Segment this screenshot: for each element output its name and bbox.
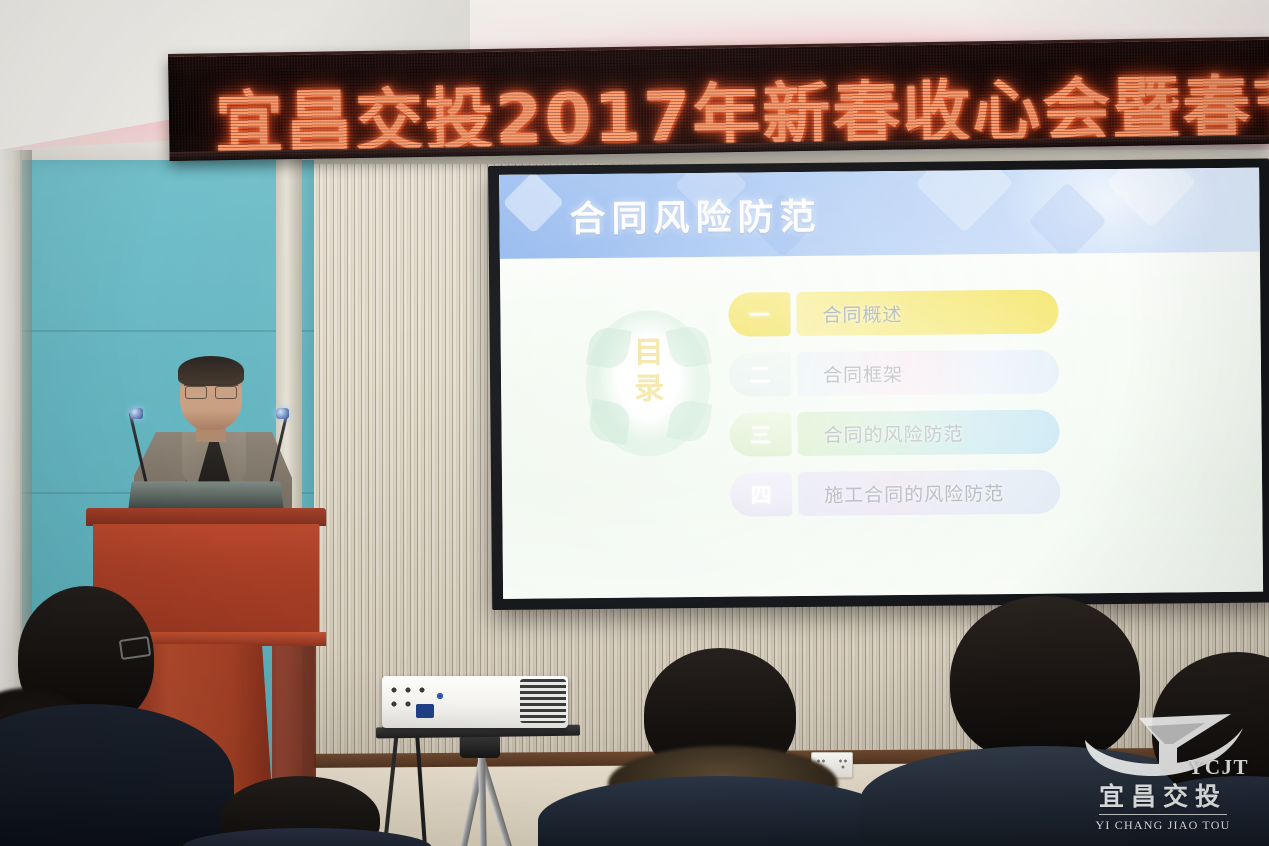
projection-screen: 合同风险防范 目录 一 (488, 159, 1269, 610)
list-item: 三 合同的风险防范 (729, 410, 1059, 457)
list-item-number: 二 (729, 352, 791, 397)
list-item-label: 合同的风险防范 (823, 419, 963, 447)
microphone-icon (130, 408, 143, 419)
projector-body (382, 676, 568, 728)
screen-surface: 合同风险防范 目录 一 (499, 168, 1263, 599)
backdrop-seam (14, 330, 314, 332)
slide-title: 合同风险防范 (569, 188, 822, 242)
list-item: 一 合同概述 (728, 290, 1058, 337)
slide-body: 目录 一 合同概述 二 合同框架 (500, 252, 1263, 599)
audience-body (182, 828, 432, 846)
audience-member (548, 626, 888, 846)
list-item-label: 合同框架 (823, 360, 903, 388)
list-item-number: 一 (728, 292, 790, 337)
audience-member (1152, 646, 1269, 846)
list-item-bar: 合同的风险防范 (797, 410, 1059, 457)
audience-head (950, 596, 1140, 764)
contents-emblem: 目录 (582, 309, 713, 460)
slide-header-band: 合同风险防范 (499, 168, 1260, 259)
diamond-icon (502, 171, 564, 233)
audience-member (0, 576, 222, 846)
speaker-hair (178, 356, 244, 386)
led-banner: 宜昌交投2017年新春收心会暨春节培 (168, 37, 1269, 161)
list-item: 四 施工合同的风险防范 (730, 470, 1060, 517)
list-item-bar: 合同概述 (796, 290, 1058, 337)
projector-ports (388, 684, 480, 714)
list-item-number: 三 (729, 412, 791, 457)
vga-plug (416, 704, 434, 718)
contents-label: 目录 (631, 335, 668, 407)
list-item-number: 四 (730, 472, 792, 517)
glasses-icon (119, 636, 151, 660)
list-item-bar: 施工合同的风险防范 (798, 470, 1060, 517)
presentation-slide: 合同风险防范 目录 一 (499, 168, 1263, 599)
laptop (128, 481, 283, 509)
microphone-icon (276, 408, 289, 419)
conference-photo: 宜昌交投2017年新春收心会暨春节培 合同风险防范 (0, 0, 1269, 846)
list-item-bar: 合同框架 (797, 350, 1059, 397)
glasses-icon (184, 384, 238, 397)
tripod-head (460, 734, 500, 758)
audience-member (196, 776, 426, 846)
audience-body (538, 776, 898, 846)
list-item-label: 施工合同的风险防范 (824, 479, 1004, 508)
list-item: 二 合同框架 (729, 350, 1059, 397)
list-item-label: 合同概述 (822, 300, 902, 328)
slide-contents-list: 一 合同概述 二 合同框架 三 (728, 290, 1060, 533)
